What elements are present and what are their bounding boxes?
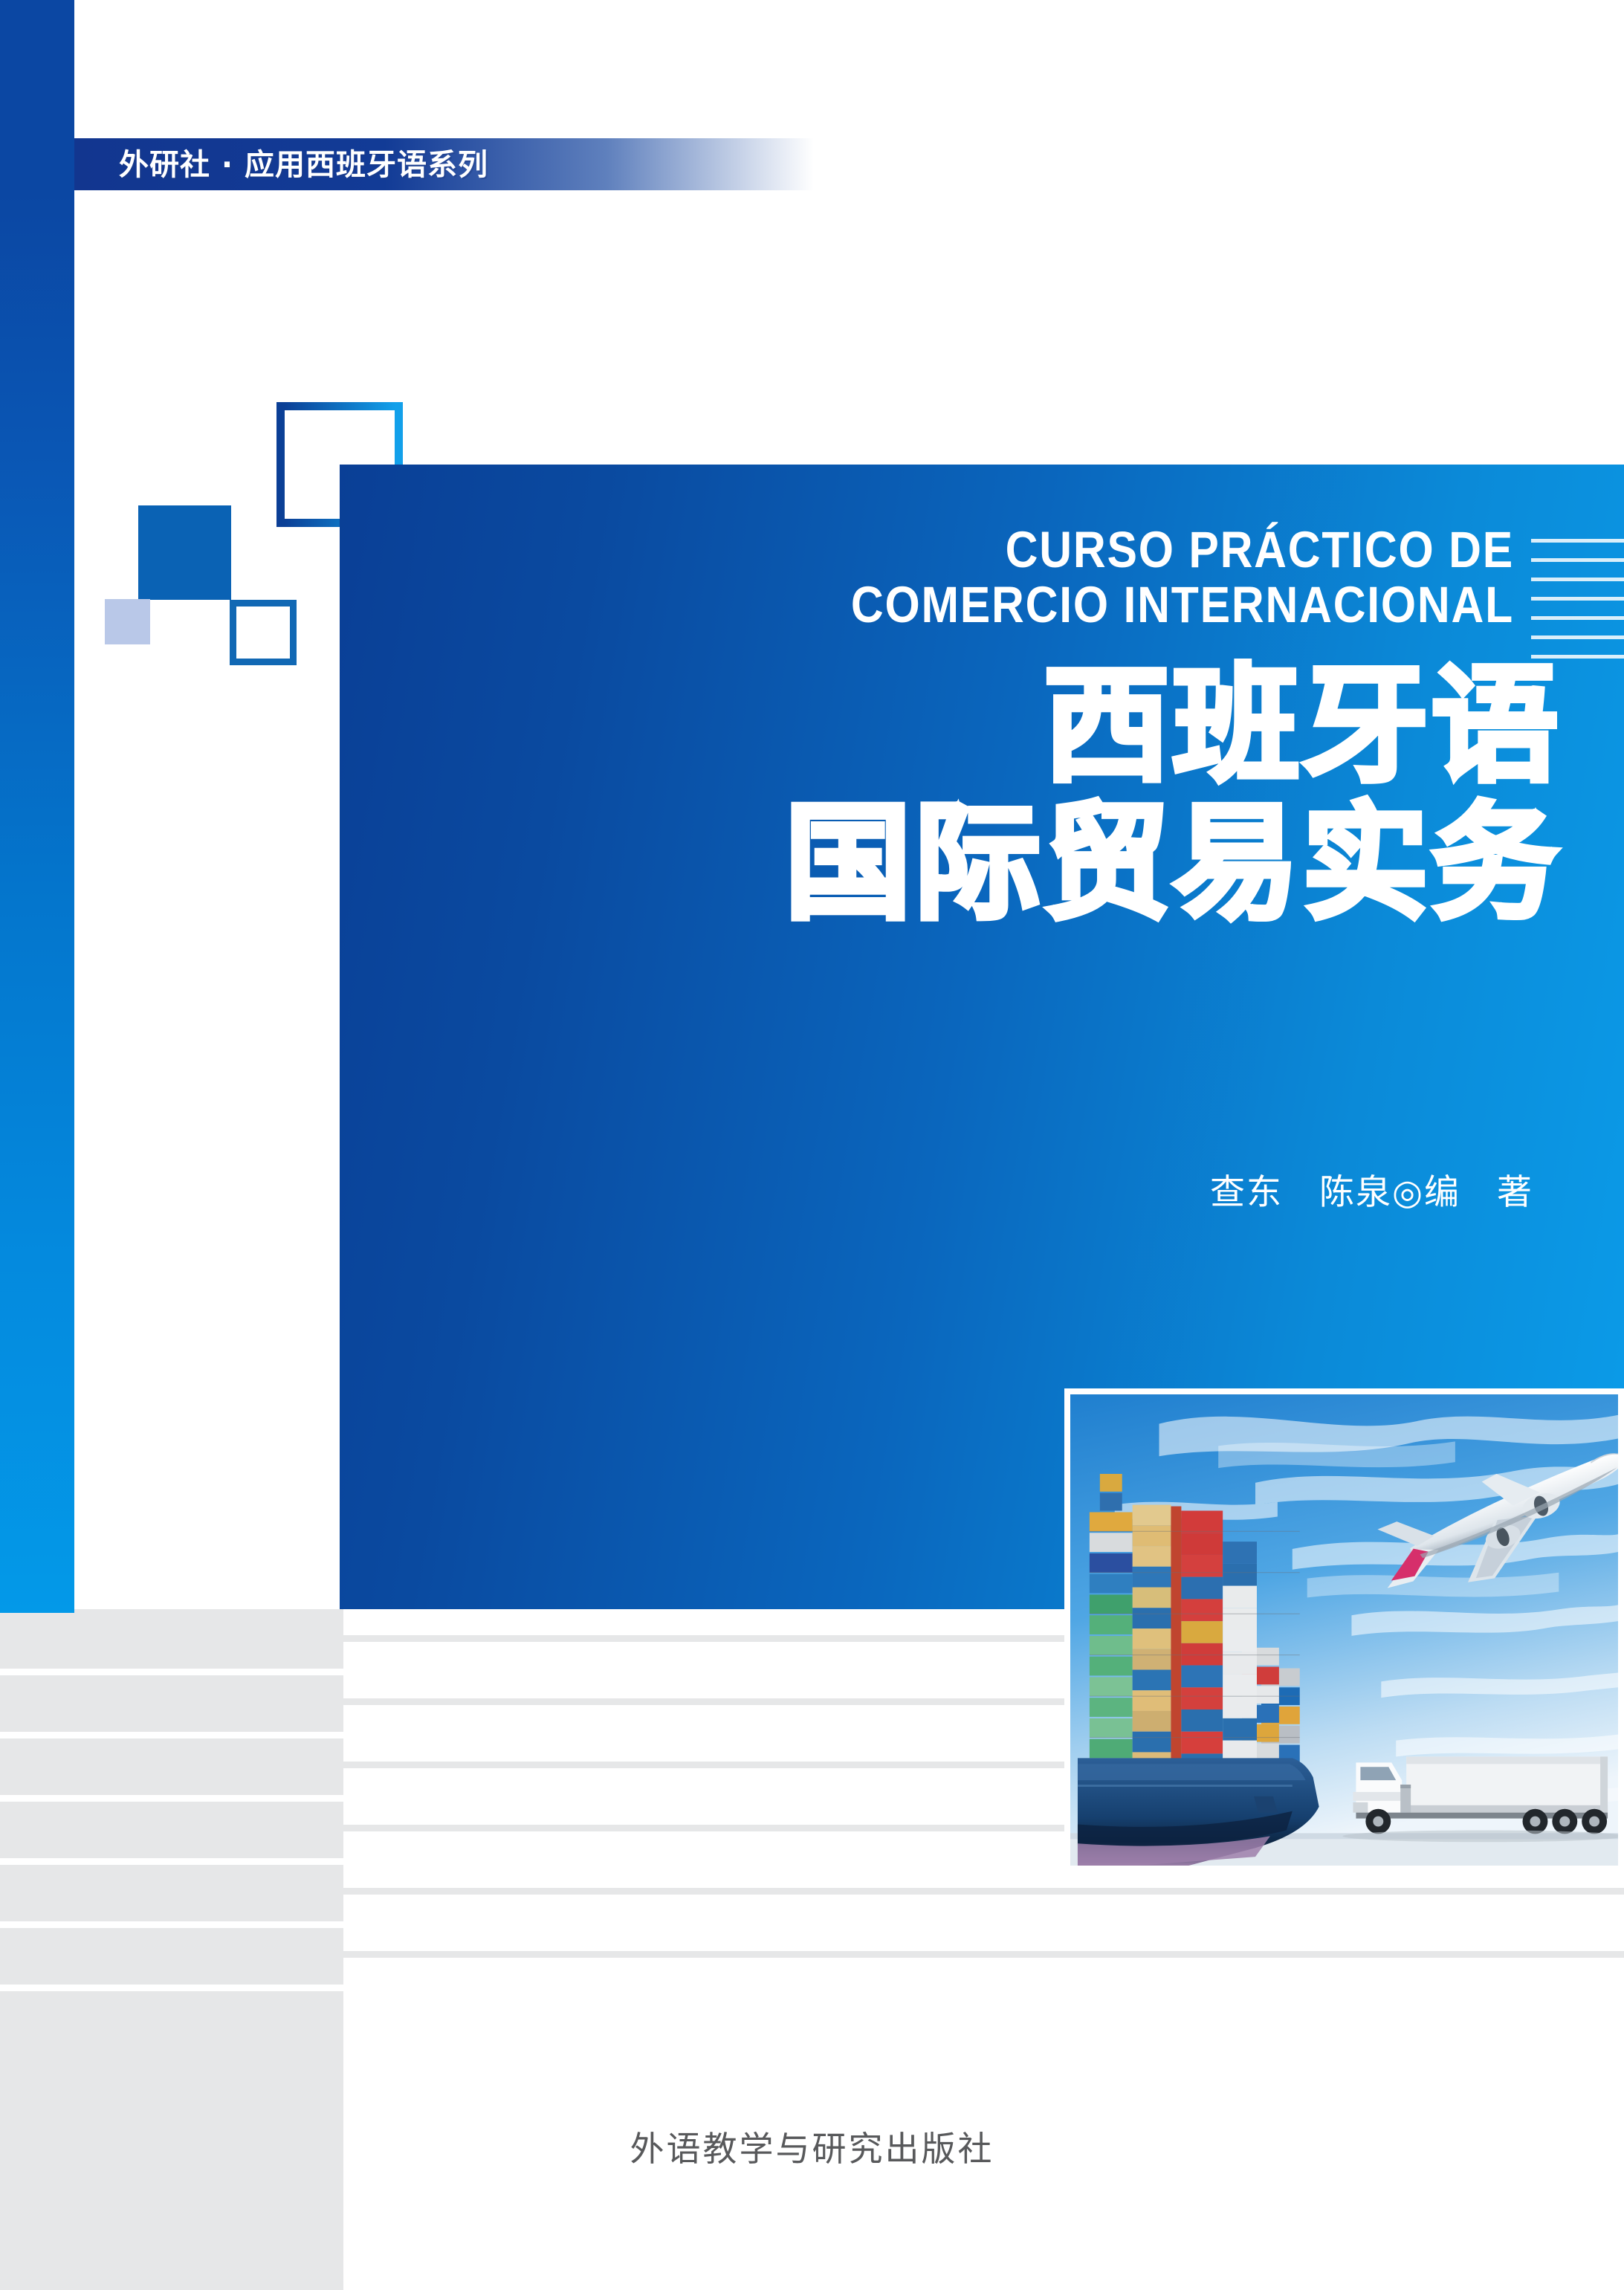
stripe-line <box>1531 578 1624 581</box>
separator-line-left <box>0 1921 343 1928</box>
logistics-illustration <box>1070 1394 1618 1866</box>
stripe-line <box>1531 558 1624 562</box>
stripe-line <box>1531 597 1624 601</box>
separator-line-left <box>0 1732 343 1738</box>
stripe-line <box>1531 635 1624 639</box>
cover-photo <box>1064 1388 1624 1872</box>
spanish-title: CURSO PRÁCTICO DE COMERCIO INTERNACIONAL <box>481 523 1514 633</box>
left-accent-bar <box>0 0 74 1613</box>
series-label: 外研社 · 应用西班牙语系列 <box>119 141 488 189</box>
separator-line-left <box>0 1858 343 1865</box>
chinese-title-line2: 国际贸易实务 <box>340 795 1561 933</box>
author-line: 查东 陈泉◎编 著 <box>340 1163 1533 1214</box>
separator-line-right <box>343 1951 1624 1958</box>
stripe-line <box>1531 616 1624 620</box>
stripe-decoration <box>1531 539 1624 662</box>
separator-line-left <box>0 1669 343 1675</box>
publisher-name: 外语教学与研究出版社 <box>0 2122 1624 2171</box>
book-cover: 外研社 · 应用西班牙语系列 CURSO PRÁCTICO DE COMERCI… <box>0 0 1624 2290</box>
decor-square-pale-small <box>105 599 150 644</box>
spanish-title-line2: COMERCIO INTERNACIONAL <box>481 578 1514 633</box>
stripe-line <box>1531 539 1624 543</box>
decor-square-outline-small <box>230 600 297 665</box>
separator-line-left <box>0 1985 343 1991</box>
separator-line-left <box>0 1795 343 1802</box>
chinese-title-line1: 西班牙语 <box>1044 653 1561 800</box>
chinese-title: 西班牙语 国际贸易实务 <box>340 658 1561 933</box>
decor-square-solid-medium <box>138 505 231 600</box>
bottom-gray-panel <box>0 1609 343 2290</box>
spanish-title-line1: CURSO PRÁCTICO DE <box>1006 521 1514 578</box>
separator-line-right <box>343 1888 1624 1895</box>
